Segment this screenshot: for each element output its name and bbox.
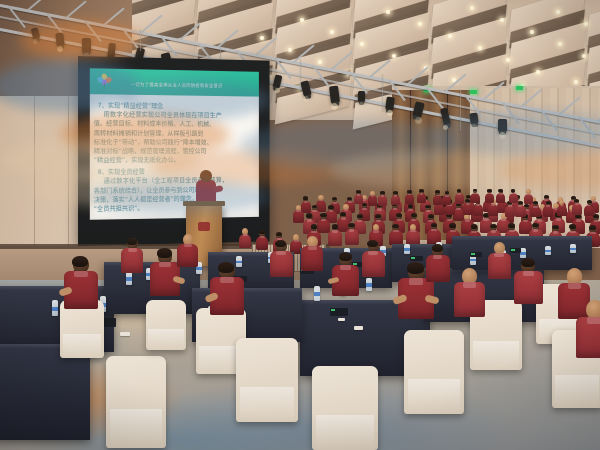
polo-collar bbox=[304, 201, 308, 203]
attendee bbox=[508, 189, 518, 205]
polo-collar bbox=[260, 236, 265, 238]
polo-collar bbox=[333, 202, 337, 204]
attendee bbox=[268, 240, 294, 280]
hair bbox=[357, 214, 363, 218]
attendee bbox=[454, 189, 464, 205]
polo-collar bbox=[184, 244, 192, 248]
attendee bbox=[238, 228, 252, 250]
polo-collar bbox=[368, 251, 377, 255]
polo-collar bbox=[511, 193, 515, 195]
truss-brace bbox=[483, 81, 504, 99]
attendee bbox=[344, 223, 360, 247]
polo-collar bbox=[447, 219, 452, 221]
polo-collar bbox=[456, 208, 461, 210]
hair bbox=[589, 225, 596, 229]
attendee-torso bbox=[354, 194, 363, 204]
hair bbox=[127, 238, 137, 245]
polo-collar bbox=[357, 220, 362, 222]
hair bbox=[356, 190, 360, 193]
attendee bbox=[390, 191, 400, 207]
polo-collar bbox=[409, 278, 423, 284]
attendee bbox=[424, 244, 451, 286]
polo-collar bbox=[321, 219, 326, 221]
polo-collar bbox=[348, 201, 352, 203]
attendee-torso bbox=[530, 206, 540, 217]
polo-collar bbox=[523, 271, 535, 276]
attendee-torso bbox=[473, 204, 483, 215]
hair bbox=[340, 212, 346, 216]
attendee-torso bbox=[239, 234, 252, 248]
attendee bbox=[574, 300, 600, 364]
power-adapter bbox=[338, 318, 345, 321]
truss-brace bbox=[407, 67, 428, 85]
spotlight-lens bbox=[359, 102, 364, 107]
polo-collar bbox=[312, 210, 317, 212]
polo-collar bbox=[527, 194, 531, 196]
attendee bbox=[360, 240, 386, 280]
table-top bbox=[452, 236, 592, 240]
truss-brace bbox=[521, 89, 542, 107]
hair bbox=[508, 223, 515, 227]
attendee-torso bbox=[557, 205, 567, 216]
hair bbox=[259, 230, 265, 234]
attendee-torso bbox=[543, 205, 553, 216]
polo-collar bbox=[568, 283, 581, 289]
hair bbox=[445, 191, 449, 194]
attendee-torso bbox=[488, 253, 511, 279]
attendee-torso bbox=[496, 193, 505, 203]
polo-collar bbox=[349, 229, 355, 231]
attendee bbox=[330, 252, 361, 300]
attendee bbox=[486, 242, 512, 282]
attendee bbox=[523, 189, 533, 205]
notebook bbox=[470, 252, 482, 257]
truss-brace bbox=[179, 22, 200, 40]
truss-drop-rod bbox=[140, 29, 141, 51]
podium-crest bbox=[198, 222, 210, 231]
attendee bbox=[353, 190, 363, 206]
polo-collar bbox=[560, 205, 564, 207]
hair bbox=[392, 224, 399, 228]
water-bottle bbox=[52, 300, 58, 316]
polo-collar bbox=[533, 229, 539, 231]
polo-collar bbox=[74, 271, 87, 277]
attendee-torso bbox=[378, 195, 387, 205]
hair bbox=[518, 201, 523, 204]
polo-collar bbox=[408, 194, 412, 196]
hair bbox=[276, 232, 282, 236]
attendee-torso bbox=[256, 236, 269, 250]
polo-collar bbox=[393, 230, 399, 232]
polo-collar bbox=[296, 210, 301, 212]
conference-hall-photo: 一切为了提高全体从业人员的防疫和安全意识 7、实现“精益经营”理念用数字化经营实… bbox=[0, 0, 600, 450]
polo-collar bbox=[570, 231, 576, 233]
polo-collar bbox=[494, 253, 503, 257]
attendee-torso bbox=[368, 195, 377, 205]
water-bottle bbox=[404, 244, 410, 254]
stage-spotlight bbox=[273, 74, 283, 88]
attendee-torso bbox=[515, 205, 525, 216]
polo-collar bbox=[431, 229, 437, 231]
polo-collar bbox=[523, 220, 528, 222]
attendee bbox=[416, 189, 426, 205]
notebook bbox=[410, 256, 423, 261]
polo-collar bbox=[420, 193, 424, 195]
polo-collar bbox=[159, 262, 171, 267]
hair bbox=[407, 262, 424, 274]
hair bbox=[490, 224, 497, 228]
carpet-swirl bbox=[120, 80, 270, 120]
hair bbox=[574, 199, 579, 202]
attendee-torso bbox=[270, 251, 293, 277]
hair bbox=[339, 252, 352, 261]
banquet-chair bbox=[312, 366, 378, 450]
polo-collar bbox=[473, 193, 477, 195]
polo-collar bbox=[308, 246, 317, 250]
polo-collar bbox=[332, 230, 338, 232]
attendee-torso bbox=[524, 194, 533, 204]
polo-collar bbox=[488, 193, 492, 195]
polo-collar bbox=[341, 217, 346, 219]
banquet-chair bbox=[106, 356, 166, 448]
polo-collar bbox=[587, 205, 591, 207]
attendee bbox=[62, 256, 100, 314]
spotlight-lens bbox=[387, 110, 393, 116]
truss-drop-rod bbox=[300, 59, 301, 91]
attendee-torso bbox=[121, 248, 143, 273]
polo-collar bbox=[594, 220, 599, 222]
attendee-torso bbox=[442, 195, 451, 205]
attendee bbox=[571, 199, 582, 217]
polo-collar bbox=[587, 317, 600, 324]
attendee bbox=[452, 268, 487, 322]
polo-collar bbox=[463, 282, 475, 288]
hair bbox=[218, 262, 234, 273]
polo-collar bbox=[509, 230, 515, 232]
spotlight-lens bbox=[303, 96, 309, 102]
attendee-torso bbox=[328, 230, 342, 246]
attendee bbox=[208, 262, 246, 320]
attendee-torso bbox=[509, 193, 518, 203]
polo-collar bbox=[436, 195, 440, 197]
polo-collar bbox=[276, 251, 285, 255]
polo-collar bbox=[508, 205, 512, 207]
hair bbox=[487, 189, 491, 192]
attendee bbox=[367, 191, 377, 207]
water-bottle bbox=[545, 246, 551, 255]
polo-collar bbox=[553, 231, 559, 233]
polo-collar bbox=[471, 231, 477, 233]
attendee bbox=[377, 191, 387, 207]
stage-spotlight bbox=[385, 96, 395, 110]
banquet-chair bbox=[404, 330, 464, 414]
hair bbox=[431, 223, 438, 227]
attendee bbox=[176, 234, 199, 270]
attendee-torso bbox=[301, 246, 323, 271]
stage-spotlight bbox=[329, 85, 340, 103]
attendee-torso bbox=[454, 282, 485, 317]
polo-collar bbox=[376, 220, 381, 222]
attendee bbox=[120, 238, 145, 276]
polo-collar bbox=[397, 219, 402, 221]
polo-collar bbox=[499, 193, 503, 195]
notebook bbox=[330, 308, 348, 316]
banquet-chair bbox=[146, 300, 186, 350]
polo-collar bbox=[373, 230, 379, 232]
attendee bbox=[556, 200, 567, 218]
polo-collar bbox=[537, 219, 542, 221]
attendee-torso bbox=[505, 205, 515, 216]
hair bbox=[569, 224, 576, 228]
polo-collar bbox=[428, 220, 433, 222]
polo-collar bbox=[371, 195, 375, 197]
polo-collar bbox=[501, 219, 506, 221]
polo-collar bbox=[294, 240, 299, 242]
hair bbox=[393, 191, 397, 194]
attendee-torso bbox=[426, 255, 450, 282]
truss-brace bbox=[445, 74, 466, 92]
hair bbox=[511, 189, 515, 192]
polo-collar bbox=[450, 230, 456, 232]
polo-collar bbox=[357, 194, 361, 196]
hair bbox=[449, 223, 456, 227]
polo-collar bbox=[220, 277, 233, 283]
polo-collar bbox=[546, 205, 550, 207]
hair bbox=[347, 197, 352, 200]
attendee-torso bbox=[362, 251, 385, 277]
stage-spotlight bbox=[412, 101, 424, 118]
attendee bbox=[404, 190, 414, 206]
attendee-torso bbox=[470, 193, 479, 203]
attendee-torso bbox=[177, 244, 198, 267]
hair bbox=[306, 213, 312, 217]
carpet-swirl bbox=[90, 180, 270, 214]
spotlight-lens bbox=[331, 103, 338, 110]
power-adapter bbox=[120, 332, 130, 336]
stage-spotlight bbox=[358, 91, 365, 102]
hair bbox=[157, 248, 171, 258]
attendee-torso bbox=[584, 205, 594, 216]
polo-collar bbox=[319, 200, 323, 202]
attendee bbox=[484, 189, 494, 205]
polo-collar bbox=[426, 210, 431, 212]
polo-collar bbox=[340, 265, 351, 270]
polo-collar bbox=[518, 205, 522, 207]
attendee bbox=[442, 191, 452, 207]
hair bbox=[521, 258, 535, 267]
water-bottle bbox=[314, 286, 320, 301]
attendee-torso bbox=[417, 193, 426, 203]
attendee-torso bbox=[345, 229, 359, 245]
attendee-torso bbox=[485, 193, 494, 203]
attendee-torso bbox=[572, 203, 582, 214]
hair bbox=[411, 213, 417, 217]
attendee bbox=[470, 189, 480, 205]
polo-collar bbox=[433, 255, 443, 259]
hair bbox=[407, 190, 411, 193]
power-adapter bbox=[354, 326, 363, 330]
hair bbox=[332, 224, 339, 228]
spotlight-lens bbox=[415, 117, 422, 124]
polo-collar bbox=[465, 219, 470, 221]
polo-collar bbox=[411, 219, 416, 221]
carpet-swirl bbox=[20, 20, 140, 60]
polo-collar bbox=[410, 230, 416, 232]
hair bbox=[435, 190, 439, 193]
attendee-torso bbox=[455, 193, 464, 203]
attendee-torso bbox=[514, 271, 543, 304]
hair bbox=[546, 201, 551, 204]
banquet-chair bbox=[236, 338, 298, 422]
truss-brace bbox=[293, 44, 314, 62]
polo-collar bbox=[377, 208, 382, 210]
polo-collar bbox=[381, 195, 385, 197]
polo-collar bbox=[311, 231, 317, 233]
polo-collar bbox=[576, 219, 581, 221]
polo-collar bbox=[590, 232, 596, 234]
hair bbox=[544, 195, 549, 198]
hair bbox=[457, 189, 461, 192]
attendee bbox=[496, 189, 506, 205]
truss-brace bbox=[0, 0, 11, 4]
polo-collar bbox=[445, 195, 449, 197]
spotlight-lens bbox=[275, 88, 280, 93]
hair bbox=[498, 189, 502, 192]
truss-brace bbox=[369, 59, 390, 77]
hair bbox=[396, 213, 402, 217]
attendee bbox=[327, 224, 343, 248]
attendee-torso bbox=[576, 317, 600, 359]
hair bbox=[320, 213, 326, 217]
truss-brace bbox=[331, 52, 352, 70]
attendee bbox=[512, 258, 545, 308]
truss-brace bbox=[141, 15, 162, 33]
polo-collar bbox=[408, 209, 413, 211]
hair bbox=[380, 191, 384, 194]
attendee-torso bbox=[488, 204, 498, 215]
hair bbox=[471, 224, 478, 228]
polo-collar bbox=[393, 208, 398, 210]
hair bbox=[72, 256, 88, 267]
attendee-torso bbox=[391, 195, 400, 205]
polo-collar bbox=[491, 230, 497, 232]
water-bottle bbox=[570, 244, 576, 253]
polo-collar bbox=[483, 218, 488, 220]
polo-collar bbox=[394, 195, 398, 197]
truss-drop-rod bbox=[382, 74, 383, 111]
hair bbox=[587, 200, 592, 203]
polo-collar bbox=[533, 206, 537, 208]
hair bbox=[303, 196, 308, 199]
polo-collar bbox=[457, 193, 461, 195]
attendee bbox=[543, 201, 554, 219]
hair bbox=[328, 205, 334, 209]
hair bbox=[419, 189, 423, 192]
attendee bbox=[300, 236, 325, 274]
hair bbox=[432, 244, 444, 252]
hair bbox=[552, 225, 559, 229]
truss-brace bbox=[255, 37, 276, 55]
polo-collar bbox=[575, 203, 579, 205]
attendee bbox=[584, 200, 595, 218]
truss-brace bbox=[65, 0, 86, 18]
attendee-torso bbox=[405, 194, 414, 204]
hair bbox=[311, 224, 318, 228]
polo-collar bbox=[128, 248, 137, 252]
banquet-table bbox=[0, 344, 90, 440]
polo-collar bbox=[362, 208, 367, 210]
polo-collar bbox=[329, 210, 334, 212]
stage-spotlight bbox=[300, 80, 311, 96]
polo-collar bbox=[556, 218, 561, 220]
polo-collar bbox=[243, 234, 248, 236]
polo-collar bbox=[307, 219, 312, 221]
